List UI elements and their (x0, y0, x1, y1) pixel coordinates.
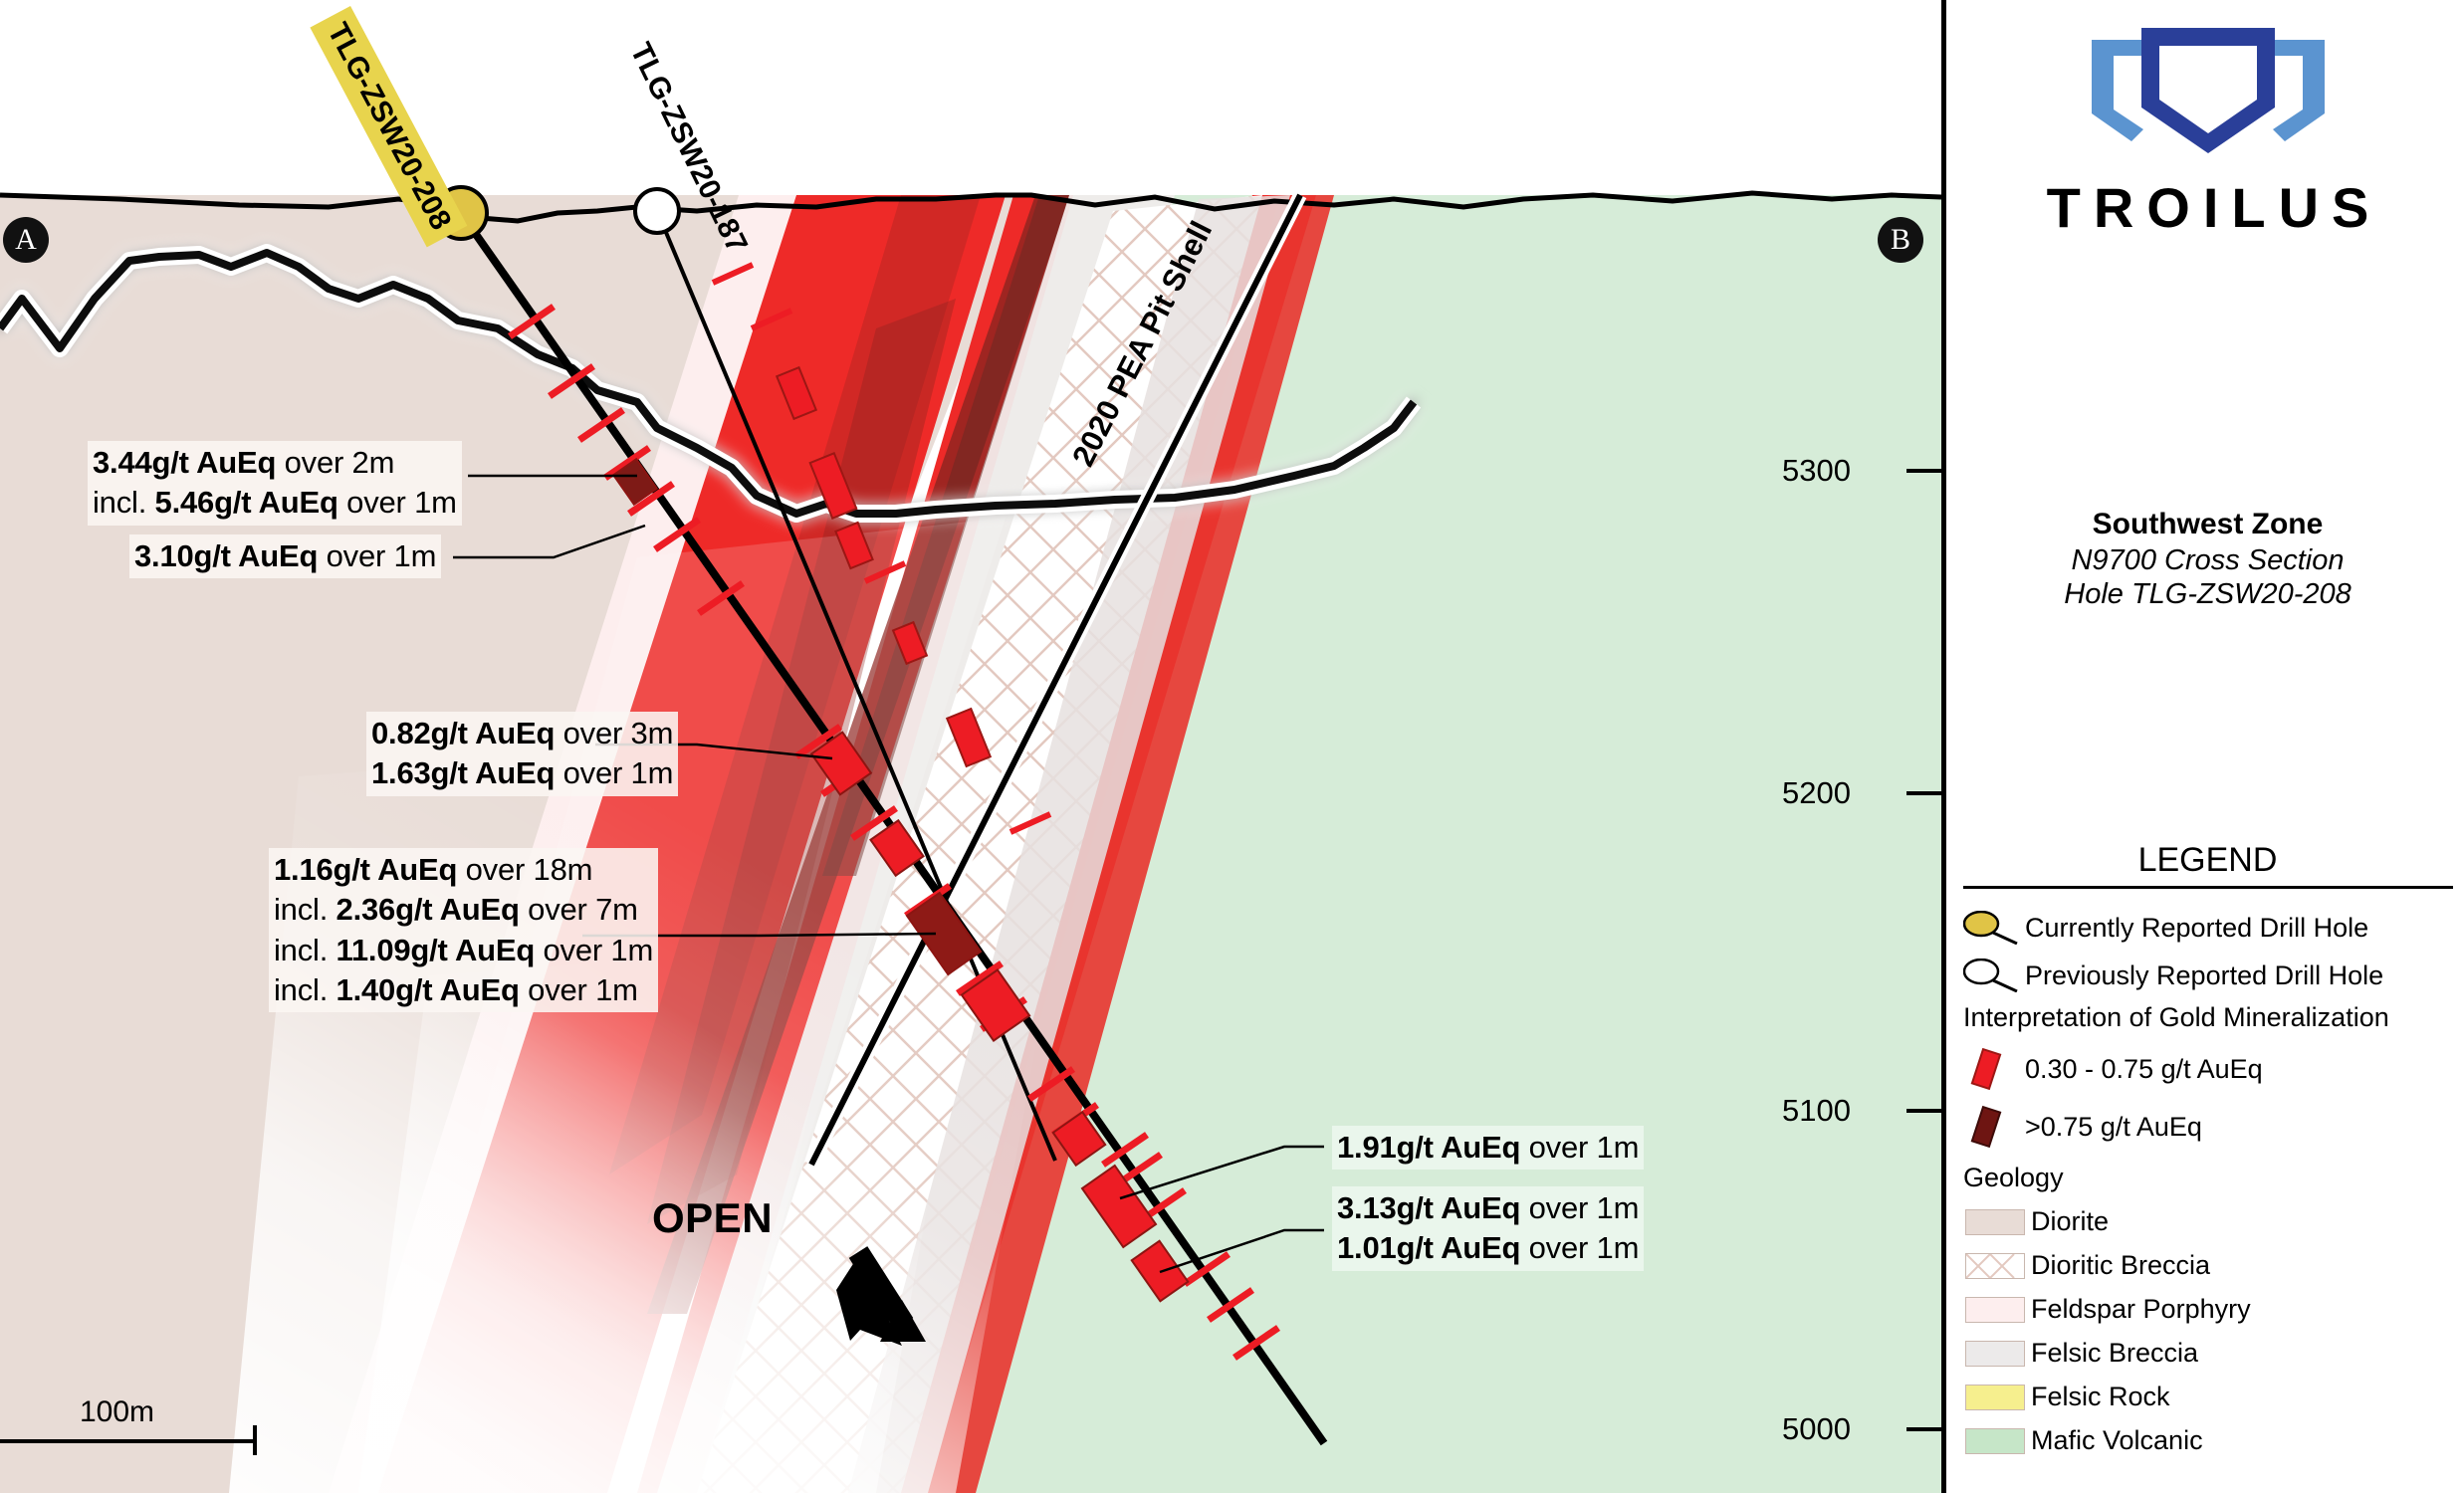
assay-line: 1.01g/t AuEq over 1m (1337, 1228, 1639, 1268)
swatch-mafic-volcanic (1965, 1428, 2025, 1454)
legend-item-felsic-breccia: Felsic Breccia (1965, 1338, 2198, 1369)
legend-label: >0.75 g/t AuEq (2025, 1112, 2202, 1143)
assay-callout-6: 3.13g/t AuEq over 1m 1.01g/t AuEq over 1… (1332, 1186, 1644, 1271)
legend-item-previous-hole: Previously Reported Drill Hole (1963, 959, 2383, 992)
title-zone: Southwest Zone (1951, 508, 2464, 541)
info-panel: TROILUS Southwest Zone N9700 Cross Secti… (1951, 0, 2464, 1493)
brand-name: TROILUS (2034, 175, 2382, 240)
grade-high-icon (1963, 1105, 2025, 1149)
swatch-diorite (1965, 1209, 2025, 1235)
elevation-label-5200: 5200 (1782, 775, 1851, 811)
cross-section-figure: A B TLG-ZSW20-208 TLG-ZSW20-187 2020 PEA… (0, 0, 2464, 1493)
grade-low-icon (1963, 1047, 2025, 1091)
legend-item-grade-low: 0.30 - 0.75 g/t AuEq (1963, 1047, 2263, 1091)
assay-callout-1: 3.44g/t AuEq over 2m incl. 5.46g/t AuEq … (88, 441, 462, 526)
legend-heading: LEGEND (1951, 841, 2464, 880)
assay-line: incl. 2.36g/t AuEq over 7m (274, 890, 653, 930)
legend-label: Mafic Volcanic (2031, 1425, 2203, 1456)
assay-callout-2: 3.10g/t AuEq over 1m (129, 534, 441, 578)
assay-callout-4: 1.16g/t AuEq over 18m incl. 2.36g/t AuEq… (269, 848, 658, 1012)
title-hole: Hole TLG-ZSW20-208 (1951, 578, 2464, 611)
swatch-feldspar-porphyry (1965, 1297, 2025, 1323)
open-label: OPEN (652, 1194, 773, 1242)
legend-label: Felsic Breccia (2031, 1338, 2198, 1369)
swatch-felsic-breccia (1965, 1341, 2025, 1367)
legend-label: Felsic Rock (2031, 1382, 2170, 1412)
legend-geology-heading: Geology (1963, 1163, 2064, 1193)
assay-line: 0.82g/t AuEq over 3m (371, 714, 673, 753)
legend-item-feldspar-porphyry: Feldspar Porphyry (1965, 1294, 2251, 1325)
swatch-dioritic-breccia (1965, 1253, 2025, 1279)
scale-bar-label: 100m (80, 1395, 154, 1429)
legend-item-dioritic-breccia: Dioritic Breccia (1965, 1250, 2210, 1281)
elevation-label-5100: 5100 (1782, 1093, 1851, 1129)
geological-cross-section: A B TLG-ZSW20-208 TLG-ZSW20-187 2020 PEA… (0, 0, 1946, 1493)
legend-divider (1963, 886, 2453, 889)
elevation-label-5000: 5000 (1782, 1411, 1851, 1447)
elevation-label-5300: 5300 (1782, 453, 1851, 489)
legend-item-diorite: Diorite (1965, 1206, 2109, 1237)
assay-line: 3.13g/t AuEq over 1m (1337, 1188, 1639, 1228)
legend-mineralization-heading: Interpretation of Gold Mineralization (1963, 1002, 2389, 1033)
assay-line: 1.63g/t AuEq over 1m (371, 753, 673, 793)
assay-line: incl. 11.09g/t AuEq over 1m (274, 931, 653, 970)
swatch-felsic-rock (1965, 1385, 2025, 1410)
legend-item-grade-high: >0.75 g/t AuEq (1963, 1105, 2202, 1149)
assay-line: incl. 5.46g/t AuEq over 1m (93, 483, 457, 523)
legend-label: Previously Reported Drill Hole (2025, 960, 2383, 991)
collar-previous (635, 189, 679, 233)
assay-callout-3: 0.82g/t AuEq over 3m 1.63g/t AuEq over 1… (366, 712, 678, 796)
legend-label: 0.30 - 0.75 g/t AuEq (2025, 1054, 2263, 1085)
assay-line: 3.10g/t AuEq over 1m (134, 536, 436, 576)
legend-label: Diorite (2031, 1206, 2109, 1237)
troilus-shield-icon (2084, 22, 2333, 161)
section-marker-a: A (3, 217, 49, 263)
assay-line: 1.91g/t AuEq over 1m (1337, 1128, 1639, 1168)
section-marker-b: B (1878, 217, 1923, 263)
title-block: Southwest Zone N9700 Cross Section Hole … (1951, 508, 2464, 611)
brand-block: TROILUS (1951, 22, 2464, 240)
current-drill-hole-icon (1963, 911, 2025, 945)
legend-item-mafic-volcanic: Mafic Volcanic (1965, 1425, 2203, 1456)
assay-line: 1.16g/t AuEq over 18m (274, 850, 653, 890)
assay-callout-5: 1.91g/t AuEq over 1m (1332, 1126, 1644, 1170)
legend-item-current-hole: Currently Reported Drill Hole (1963, 911, 2368, 945)
legend-label: Feldspar Porphyry (2031, 1294, 2251, 1325)
legend-label: Dioritic Breccia (2031, 1250, 2210, 1281)
previous-drill-hole-icon (1963, 959, 2025, 992)
legend-label: Currently Reported Drill Hole (2025, 913, 2368, 944)
title-section: N9700 Cross Section (1951, 544, 2464, 577)
legend-item-felsic-rock: Felsic Rock (1965, 1382, 2170, 1412)
section-canvas (0, 0, 1941, 1493)
assay-line: incl. 1.40g/t AuEq over 1m (274, 970, 653, 1010)
assay-line: 3.44g/t AuEq over 2m (93, 443, 457, 483)
